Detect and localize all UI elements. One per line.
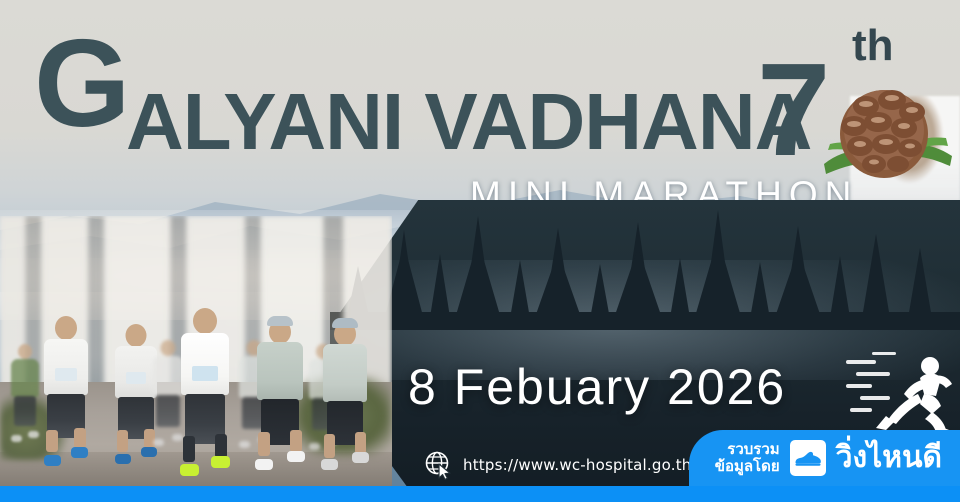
badge-thai-label: รวบรวม ข้อมูลโดย [715, 441, 780, 475]
treeline-silhouette [330, 200, 960, 330]
running-shoe-icon [790, 440, 826, 476]
badge-brand-name: วิ่งไหนดี [836, 443, 942, 473]
marathon-poster: G ALYANI VADHANA 7 th MINI MARATHON "Run… [0, 0, 960, 502]
headline-lead-letter: G [34, 22, 128, 146]
edition-number: 7 [757, 44, 830, 176]
badge-thai-line1: รวบรวม [727, 440, 779, 458]
list-item [40, 316, 92, 466]
globe-cursor-icon [424, 450, 454, 480]
list-item [8, 344, 42, 440]
list-item [252, 316, 308, 470]
event-date: 8 Febuary 2026 [408, 362, 786, 412]
list-item [318, 318, 372, 470]
website-url-text: https://www.wc-hospital.go.th [463, 456, 691, 474]
runners-photo [0, 216, 392, 486]
list-item [176, 308, 234, 476]
badge-thai-line2: ข้อมูลโดย [715, 457, 780, 475]
website-url-bar[interactable]: https://www.wc-hospital.go.th [424, 450, 691, 480]
footer-blue-strip [0, 486, 960, 502]
runner-icon [846, 344, 958, 436]
headline-main-text: ALYANI VADHANA [126, 82, 811, 162]
headline-block: G ALYANI VADHANA 7 th MINI MARATHON [0, 0, 960, 190]
photo-runners-group [0, 254, 392, 484]
edition-suffix: th [852, 24, 894, 68]
data-source-badge[interactable]: รวบรวม ข้อมูลโดย วิ่งไหนดี [689, 430, 960, 486]
